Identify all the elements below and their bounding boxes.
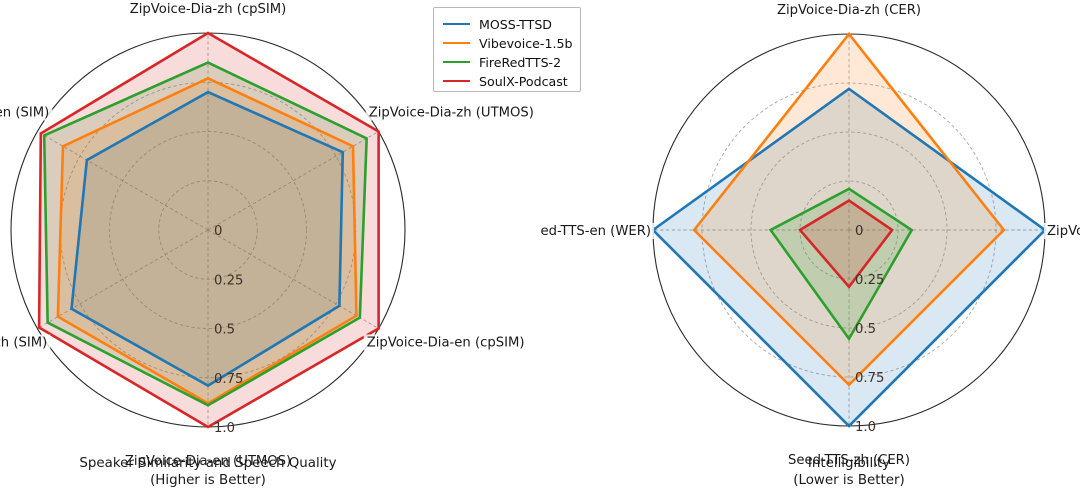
r-tick-label: 1.0 — [214, 421, 235, 436]
legend-item: SoulX-Podcast — [443, 72, 571, 90]
legend-label-moss-ttsd: MOSS-TTSD — [479, 17, 552, 32]
legend-label-soulx: SoulX-Podcast — [479, 74, 568, 89]
legend-item: FireRedTTS-2 — [443, 53, 571, 71]
legend-swatch-fireredtts — [443, 61, 470, 63]
panel-intelligibility: 00.250.50.751.0ZipVoice-Dia-zh (CER)ZipV… — [540, 0, 1080, 494]
legend-swatch-soulx — [443, 80, 470, 82]
left-chart-subtitle: (Higher is Better) — [150, 473, 266, 488]
radar-svg-right: 00.250.50.751.0ZipVoice-Dia-zh (CER)ZipV… — [540, 0, 1080, 494]
legend-swatch-moss-ttsd — [443, 23, 470, 25]
axis-label-zipvoice-dia-en-cpsim-: ZipVoice-Dia-en (cpSIM) — [367, 336, 525, 351]
r-tick-label: 1.0 — [855, 420, 876, 435]
axis-label-zipvoice-dia-zh-cpsim-: ZipVoice-Dia-zh (cpSIM) — [130, 2, 287, 17]
r-tick-label: 0.25 — [214, 273, 243, 288]
r-tick-label: 0.75 — [214, 372, 243, 387]
legend-label-vibevoice: Vibevoice-1.5b — [479, 36, 572, 51]
axis-label-zipvoice-dia-en-wer-: ZipVoice-Dia-en (WER) — [1047, 224, 1080, 239]
r-tick-label: 0 — [855, 224, 863, 239]
left-chart-title: Speaker Similarity and Speech Quality — [79, 456, 336, 471]
legend-swatch-vibevoice — [443, 42, 470, 44]
legend-label-fireredtts: FireRedTTS-2 — [479, 55, 561, 70]
r-tick-label: 0.25 — [855, 273, 884, 288]
axis-label-zipvoice-dia-zh-cer-: ZipVoice-Dia-zh (CER) — [777, 3, 921, 18]
legend-item: MOSS-TTSD — [443, 15, 571, 33]
r-tick-label: 0.75 — [855, 371, 884, 386]
radar-chart-figure: 00.250.50.751.0ZipVoice-Dia-zh (cpSIM)Zi… — [0, 0, 1080, 494]
right-chart-title: Intelligibility — [808, 456, 890, 471]
r-tick-label: 0 — [214, 224, 222, 239]
axis-label-seed-tts-en-wer-: Seed-TTS-en (WER) — [540, 224, 651, 239]
legend: MOSS-TTSD Vibevoice-1.5b FireRedTTS-2 So… — [433, 7, 581, 92]
right-chart-subtitle: (Lower is Better) — [793, 473, 904, 488]
axis-label-zipvoice-dia-zh-utmos-: ZipVoice-Dia-zh (UTMOS) — [369, 106, 534, 121]
r-tick-label: 0.5 — [214, 323, 235, 338]
axis-label-seed-tts-en-sim-: Seed-TTS-en (SIM) — [0, 106, 49, 121]
axis-label-seed-tts-zh-sim-: Seed-TTS-zh (SIM) — [0, 336, 47, 351]
r-tick-label: 0.5 — [855, 322, 876, 337]
legend-item: Vibevoice-1.5b — [443, 34, 571, 52]
